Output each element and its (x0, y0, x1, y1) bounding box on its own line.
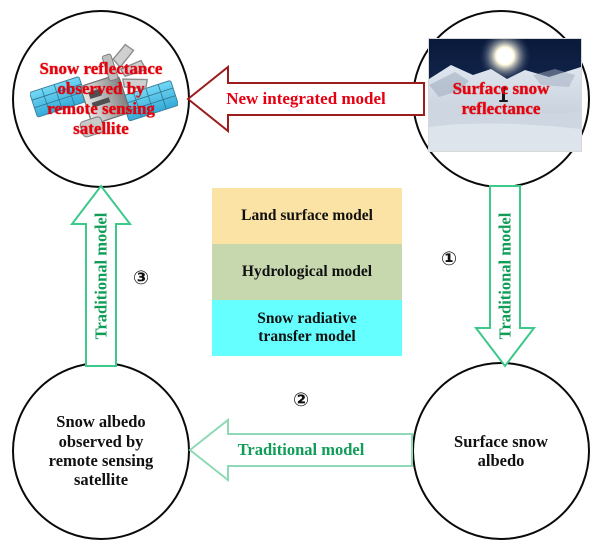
diagram-canvas: Snow reflectance observed by remote sens… (0, 0, 600, 550)
legend-row-land-surface-model[interactable]: Land surface model (212, 188, 402, 244)
step-marker-1: ① (441, 248, 457, 270)
node-label: Snow albedo observed by remote sensing s… (49, 412, 154, 490)
node-surface-snow-reflectance[interactable]: Surface snow reflectance (412, 10, 590, 188)
step-marker-2: ② (293, 389, 309, 411)
legend-label: Hydrological model (242, 263, 372, 281)
node-snow-reflectance-satellite[interactable]: Snow reflectance observed by remote sens… (12, 10, 190, 188)
node-surface-snow-albedo[interactable]: Surface snow albedo (412, 362, 590, 540)
model-legend: Land surface model Hydrological model Sn… (212, 188, 402, 356)
arrow-traditional-model-right[interactable] (474, 186, 536, 366)
arrow-new-integrated-model[interactable] (188, 62, 424, 136)
satellite-icon (30, 40, 178, 164)
node-label: Surface snow albedo (454, 432, 548, 471)
legend-label: Land surface model (241, 207, 373, 225)
step-marker-3: ③ (133, 267, 149, 289)
arrow-traditional-model-bottom[interactable] (190, 418, 412, 482)
node-snow-albedo-satellite[interactable]: Snow albedo observed by remote sensing s… (12, 362, 190, 540)
legend-row-hydrological-model[interactable]: Hydrological model (212, 244, 402, 300)
snow-slope-photo (428, 38, 582, 152)
legend-row-snow-radiative-transfer-model[interactable]: Snow radiative transfer model (212, 300, 402, 356)
arrow-traditional-model-left[interactable] (70, 186, 132, 366)
legend-label: Snow radiative transfer model (257, 310, 356, 346)
